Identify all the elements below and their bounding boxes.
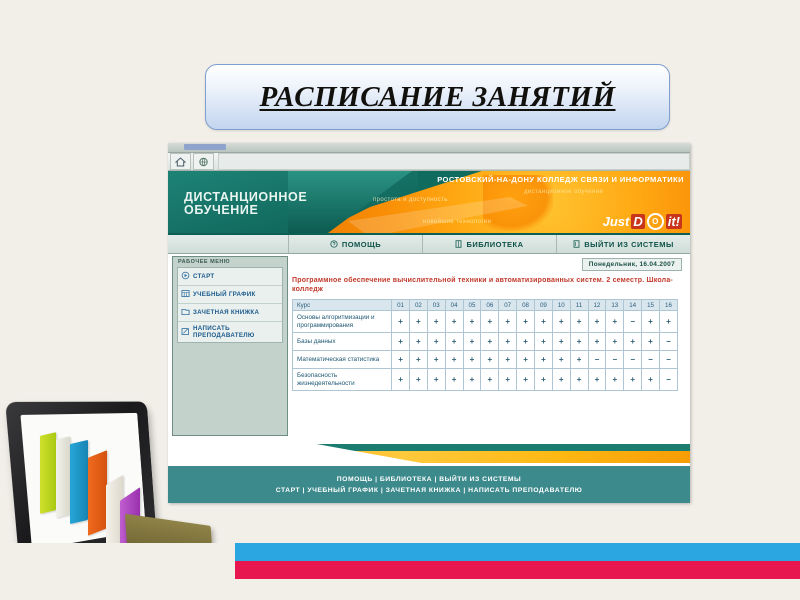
schedule-col-12: 12 <box>588 300 606 311</box>
schedule-col-09: 09 <box>534 300 552 311</box>
attendance-cell-01: + <box>392 369 410 391</box>
calendar-icon <box>181 289 190 300</box>
book-orange <box>88 450 107 536</box>
sidebar-menu: СТАРТ УЧЕБНЫЙ ГРАФИК ЗАЧЕТНАЯ КНИЖКА <box>177 267 283 343</box>
sidebar-item-start[interactable]: СТАРТ <box>178 268 282 286</box>
globe-print-icon[interactable] <box>193 153 214 170</box>
attendance-cell-08: + <box>517 333 535 351</box>
attendance-cell-09: + <box>534 333 552 351</box>
gradebook-icon <box>181 307 190 318</box>
top-navigation-bar: ПОМОЩЬ БИБЛИОТЕКА ВЫЙТИ ИЗ СИСТЕМЫ <box>168 233 690 254</box>
browser-tab[interactable] <box>184 144 226 150</box>
schedule-col-02: 02 <box>409 300 427 311</box>
browser-toolbar <box>168 153 690 171</box>
site-footer: ПОМОЩЬ | БИБЛИОТЕКА | ВЫЙТИ ИЗ СИСТЕМЫ С… <box>168 466 690 503</box>
attendance-cell-08: + <box>517 369 535 391</box>
attendance-cell-10: + <box>552 311 570 333</box>
attendance-cell-02: + <box>409 369 427 391</box>
just-do-it-logo: Just D O it! <box>603 213 682 230</box>
start-icon <box>181 271 190 282</box>
attendance-cell-05: + <box>463 369 481 391</box>
current-date: Понедельник, 16.04.2007 <box>582 258 682 271</box>
attendance-cell-02: + <box>409 351 427 369</box>
attendance-cell-16: − <box>659 333 677 351</box>
attendance-cell-04: + <box>445 311 463 333</box>
attendance-cell-05: + <box>463 351 481 369</box>
attendance-cell-03: + <box>427 311 445 333</box>
page-body: РАБОЧЕЕ МЕНЮ СТАРТ УЧЕБНЫЙ ГРАФИК <box>168 254 690 444</box>
site-banner: РОСТОВСКИЙ-НА-ДОНУ КОЛЛЕДЖ СВЯЗИ И ИНФОР… <box>168 171 690 233</box>
logo-it-text: it! <box>666 214 682 229</box>
schedule-col-10: 10 <box>552 300 570 311</box>
book-blue <box>70 440 88 524</box>
attendance-cell-11: + <box>570 311 588 333</box>
nav-button-logout[interactable]: ВЫЙТИ ИЗ СИСТЕМЫ <box>557 235 690 253</box>
nav-button-help-label: ПОМОЩЬ <box>342 240 381 249</box>
attendance-cell-05: + <box>463 311 481 333</box>
attendance-cell-07: + <box>499 351 517 369</box>
nav-button-logout-label: ВЫЙТИ ИЗ СИСТЕМЫ <box>584 240 674 249</box>
schedule-col-06: 06 <box>481 300 499 311</box>
attendance-cell-01: + <box>392 333 410 351</box>
banner-tagline-2: новейшие технологии <box>423 219 491 225</box>
attendance-cell-12: + <box>588 333 606 351</box>
attendance-cell-02: + <box>409 311 427 333</box>
table-row: Математическая статистика+++++++++++−−−−… <box>293 351 678 369</box>
attendance-cell-01: + <box>392 351 410 369</box>
footer-links-row1[interactable]: ПОМОЩЬ | БИБЛИОТЕКА | ВЫЙТИ ИЗ СИСТЕМЫ <box>168 474 690 485</box>
banner-tagline-1: простота и доступность <box>373 197 448 203</box>
course-program-title: Программное обеспечение вычислительной т… <box>288 271 686 297</box>
attendance-cell-13: + <box>606 333 624 351</box>
home-icon[interactable] <box>170 153 191 170</box>
attendance-cell-06: + <box>481 369 499 391</box>
nav-button-library[interactable]: БИБЛИОТЕКА <box>423 235 557 253</box>
logo-o-text: O <box>647 213 664 230</box>
schedule-col-05: 05 <box>463 300 481 311</box>
nav-button-library-label: БИБЛИОТЕКА <box>466 240 523 249</box>
schedule-col-14: 14 <box>624 300 642 311</box>
attendance-cell-09: + <box>534 369 552 391</box>
schedule-col-04: 04 <box>445 300 463 311</box>
attendance-cell-05: + <box>463 333 481 351</box>
attendance-cell-03: + <box>427 351 445 369</box>
attendance-cell-14: − <box>624 351 642 369</box>
content-area: Понедельник, 16.04.2007 Программное обес… <box>288 256 686 434</box>
sidebar-title: РАБОЧЕЕ МЕНЮ <box>173 257 287 266</box>
attendance-cell-12: − <box>588 351 606 369</box>
table-row: Безопасность жизнедеятельности++++++++++… <box>293 369 678 391</box>
table-row: Основы алгоритмизации и программирования… <box>293 311 678 333</box>
attendance-cell-15: + <box>642 369 660 391</box>
attendance-cell-10: + <box>552 351 570 369</box>
footer-wave-graphic <box>168 444 690 466</box>
site-title-line2: ОБУЧЕНИЕ <box>184 204 404 217</box>
banner-tagline-3: дистанционное обучение <box>524 189 603 195</box>
exit-icon <box>573 240 580 248</box>
browser-address-bar[interactable] <box>218 153 690 170</box>
attendance-cell-16: − <box>659 351 677 369</box>
schedule-col-11: 11 <box>570 300 588 311</box>
course-name-cell: Математическая статистика <box>293 351 392 369</box>
help-icon <box>330 240 338 248</box>
stripe-mask <box>0 543 235 583</box>
attendance-cell-11: + <box>570 333 588 351</box>
schedule-col-15: 15 <box>642 300 660 311</box>
course-name-cell: Основы алгоритмизации и программирования <box>293 311 392 333</box>
attendance-cell-13: + <box>606 369 624 391</box>
schedule-col-course: Курс <box>293 300 392 311</box>
schedule-col-16: 16 <box>659 300 677 311</box>
schedule-col-08: 08 <box>517 300 535 311</box>
attendance-cell-07: + <box>499 369 517 391</box>
table-row: Базы данных+++++++++++++++− <box>293 333 678 351</box>
attendance-cell-09: + <box>534 311 552 333</box>
attendance-cell-15: − <box>642 351 660 369</box>
attendance-cell-04: + <box>445 369 463 391</box>
attendance-cell-07: + <box>499 311 517 333</box>
sidebar-item-gradebook[interactable]: ЗАЧЕТНАЯ КНИЖКА <box>178 304 282 322</box>
sidebar-item-write-teacher[interactable]: НАПИСАТЬ ПРЕПОДАВАТЕЛЮ <box>178 322 282 342</box>
sidebar-item-schedule[interactable]: УЧЕБНЫЙ ГРАФИК <box>178 286 282 304</box>
schedule-header-row: Курс01020304050607080910111213141516 <box>293 300 678 311</box>
date-row: Понедельник, 16.04.2007 <box>288 256 686 271</box>
sidebar-item-start-label: СТАРТ <box>193 273 215 280</box>
college-name: РОСТОВСКИЙ-НА-ДОНУ КОЛЛЕДЖ СВЯЗИ И ИНФОР… <box>437 175 684 184</box>
book-white-1 <box>56 436 70 517</box>
slide-title-box: РАСПИСАНИЕ ЗАНЯТИЙ <box>205 64 670 130</box>
attendance-cell-14: − <box>624 311 642 333</box>
attendance-cell-14: + <box>624 369 642 391</box>
sidebar-item-gradebook-label: ЗАЧЕТНАЯ КНИЖКА <box>193 309 259 316</box>
attendance-cell-07: + <box>499 333 517 351</box>
attendance-cell-13: − <box>606 351 624 369</box>
attendance-cell-10: + <box>552 369 570 391</box>
sidebar-item-write-teacher-label: НАПИСАТЬ ПРЕПОДАВАТЕЛЮ <box>193 325 280 339</box>
attendance-cell-04: + <box>445 333 463 351</box>
write-icon <box>181 327 190 338</box>
course-name-cell: Безопасность жизнедеятельности <box>293 369 392 391</box>
attendance-cell-09: + <box>534 351 552 369</box>
attendance-cell-06: + <box>481 333 499 351</box>
attendance-cell-12: + <box>588 311 606 333</box>
attendance-cell-12: + <box>588 369 606 391</box>
attendance-cell-13: + <box>606 311 624 333</box>
schedule-col-01: 01 <box>392 300 410 311</box>
attendance-cell-06: + <box>481 311 499 333</box>
attendance-cell-08: + <box>517 351 535 369</box>
nav-spacer <box>168 235 289 253</box>
footer-links-row2[interactable]: СТАРТ | УЧЕБНЫЙ ГРАФИК | ЗАЧЕТНАЯ КНИЖКА… <box>168 485 690 496</box>
logo-just-text: Just <box>603 214 630 229</box>
book-green <box>40 432 56 514</box>
course-name-cell: Базы данных <box>293 333 392 351</box>
attendance-cell-15: + <box>642 333 660 351</box>
nav-button-help[interactable]: ПОМОЩЬ <box>289 235 423 253</box>
page-title: РАСПИСАНИЕ ЗАНЯТИЙ <box>260 81 616 114</box>
schedule-col-07: 07 <box>499 300 517 311</box>
attendance-cell-04: + <box>445 351 463 369</box>
attendance-cell-15: + <box>642 311 660 333</box>
attendance-cell-11: + <box>570 369 588 391</box>
attendance-cell-14: + <box>624 333 642 351</box>
schedule-col-13: 13 <box>606 300 624 311</box>
attendance-cell-16: + <box>659 311 677 333</box>
schedule-table-body: Основы алгоритмизации и программирования… <box>293 311 678 391</box>
attendance-cell-10: + <box>552 333 570 351</box>
attendance-cell-03: + <box>427 369 445 391</box>
logo-d-text: D <box>631 214 644 229</box>
schedule-table-head: Курс01020304050607080910111213141516 <box>293 300 678 311</box>
attendance-cell-01: + <box>392 311 410 333</box>
attendance-cell-11: + <box>570 351 588 369</box>
attendance-cell-03: + <box>427 333 445 351</box>
schedule-table: Курс01020304050607080910111213141516 Осн… <box>292 299 678 391</box>
sidebar-item-schedule-label: УЧЕБНЫЙ ГРАФИК <box>193 291 256 298</box>
schedule-col-03: 03 <box>427 300 445 311</box>
browser-titlebar <box>168 143 690 153</box>
attendance-cell-08: + <box>517 311 535 333</box>
attendance-cell-16: − <box>659 369 677 391</box>
book-icon <box>455 240 462 248</box>
site-title: ДИСТАНЦИОННОЕ ОБУЧЕНИЕ <box>184 191 404 217</box>
attendance-cell-02: + <box>409 333 427 351</box>
attendance-cell-06: + <box>481 351 499 369</box>
embedded-browser-screenshot: РОСТОВСКИЙ-НА-ДОНУ КОЛЛЕДЖ СВЯЗИ И ИНФОР… <box>168 143 690 503</box>
